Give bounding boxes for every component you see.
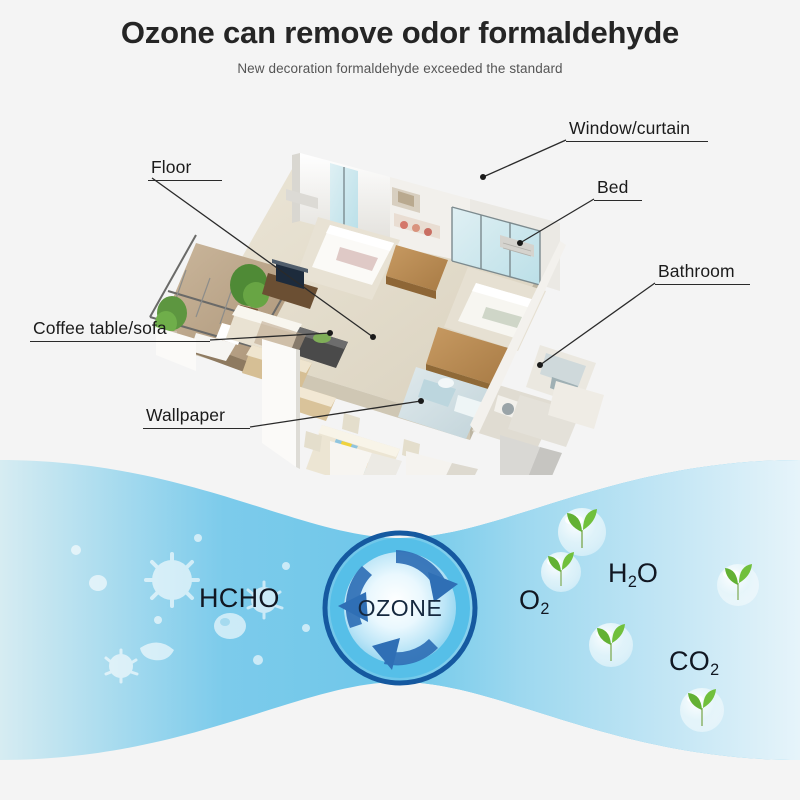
page-subtitle: New decoration formaldehyde exceeded the…: [0, 61, 800, 76]
callout-coffee-table-sofa-label: Coffee table/sofa: [30, 318, 210, 341]
apartment-diagram: [0, 95, 800, 475]
callout-wallpaper-underline: [143, 428, 250, 429]
infographic-canvas: Ozone can remove odor formaldehyde New d…: [0, 0, 800, 800]
callout-bathroom: Bathroom: [655, 261, 750, 285]
germ-spiky-1: [146, 554, 198, 606]
header-block: Ozone can remove odor formaldehyde New d…: [0, 0, 800, 76]
callout-bathroom-underline: [655, 284, 750, 285]
germ-dot-2: [194, 534, 202, 542]
output-label-o2-symbol: O: [519, 585, 540, 615]
germ-dot-5: [253, 655, 263, 665]
callout-window-curtain-underline: [566, 141, 708, 142]
germ-dot-1: [71, 545, 81, 555]
output-label-h2o-suffix: O: [637, 558, 658, 588]
sprout-bubble-5: [680, 688, 724, 732]
sprout-bubble-1: [558, 508, 606, 556]
output-label-co2-symbol: CO: [669, 646, 710, 676]
callout-coffee-table-sofa-underline: [30, 341, 210, 342]
output-label-o2: O2: [519, 585, 549, 616]
sprout-bubble-3: [717, 564, 759, 606]
pollutant-label-hcho: HCHO: [199, 583, 280, 614]
callout-wallpaper: Wallpaper: [143, 405, 250, 429]
callout-coffee-table-sofa: Coffee table/sofa: [30, 318, 210, 342]
callout-floor-underline: [148, 180, 222, 181]
output-label-o2-subscript: 2: [540, 600, 549, 618]
output-label-co2-subscript: 2: [710, 661, 719, 679]
germ-dot-3: [154, 616, 162, 624]
output-label-co2: CO2: [669, 646, 719, 677]
callout-floor-label: Floor: [148, 157, 222, 180]
germ-dot-4: [282, 562, 290, 570]
callout-bed-label: Bed: [594, 177, 642, 200]
callout-bathroom-label: Bathroom: [655, 261, 750, 284]
ozone-cycle-svg: [322, 530, 478, 686]
callout-floor: Floor: [148, 157, 222, 181]
apartment-cutaway-illustration: [0, 95, 800, 475]
callout-bed: Bed: [594, 177, 642, 201]
germ-blob-1: [214, 613, 246, 639]
output-label-h2o-symbol: H: [608, 558, 628, 588]
germ-dot-6: [302, 624, 310, 632]
callout-wallpaper-label: Wallpaper: [143, 405, 250, 428]
callout-window-curtain: Window/curtain: [566, 118, 708, 142]
germ-blob-1-nucleus: [220, 618, 230, 626]
sprout-bubble-4: [589, 623, 633, 667]
output-label-h2o-subscript: 2: [628, 573, 637, 591]
output-label-h2o: H2O: [608, 558, 658, 589]
callout-window-curtain-label: Window/curtain: [566, 118, 708, 141]
callout-bed-underline: [594, 200, 642, 201]
page-title: Ozone can remove odor formaldehyde: [0, 16, 800, 50]
germ-blob-2: [89, 575, 107, 591]
ozone-cycle-badge: OZONE: [322, 530, 478, 686]
